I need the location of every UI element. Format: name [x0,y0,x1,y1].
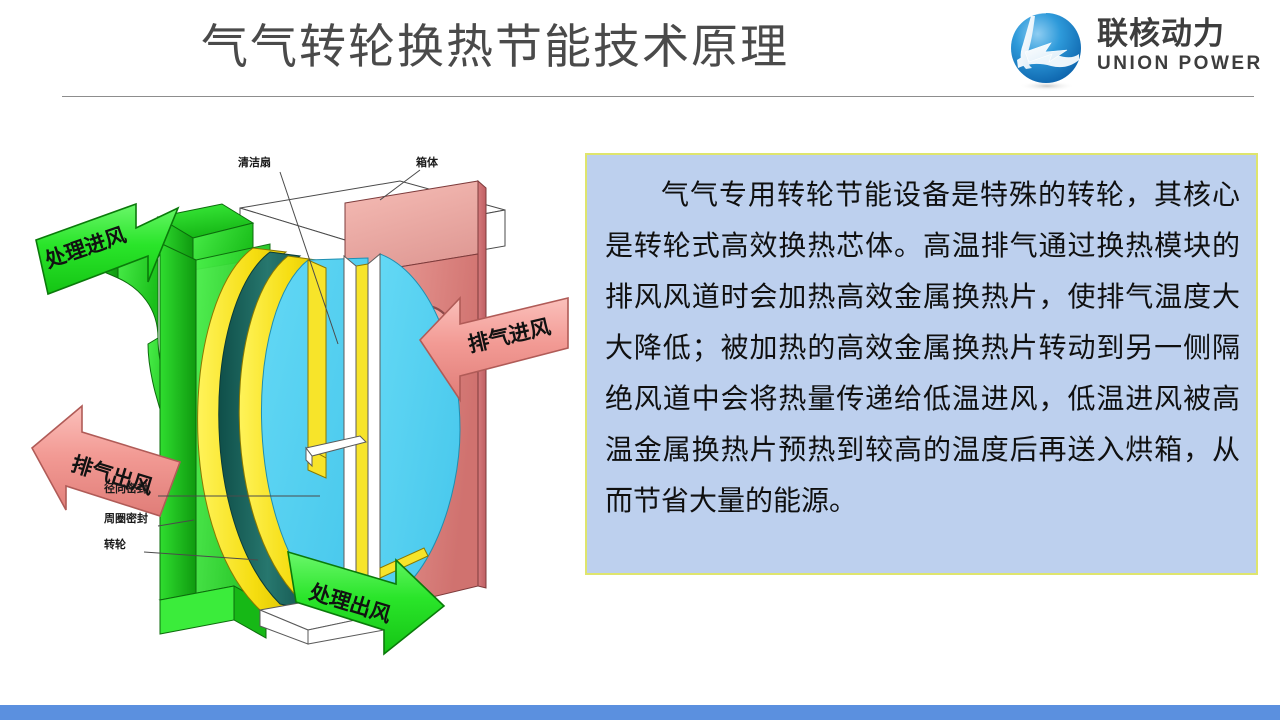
slide-root: 气气转轮换热节能技术原理 [0,0,1280,720]
callout-label-casing: 箱体 [416,155,439,169]
description-paragraph: 气气专用转轮节能设备是特殊的转轮，其核心是转轮式高效换热芯体。高温排气通过换热模… [605,169,1240,526]
globe-swoosh-icon [1005,10,1089,94]
description-panel: 气气专用转轮节能设备是特殊的转轮，其核心是转轮式高效换热芯体。高温排气通过换热模… [585,153,1258,575]
heat-wheel-diagram: 处理进风 排气进风 排气出风 处理出风 清洁扇 [8,148,573,660]
callout-label-rotor: 转轮 [104,537,126,551]
callout-label-clean-fan: 清洁扇 [238,155,271,169]
logo-wordmark: 联核动力 UNION POWER [1097,16,1267,76]
company-logo: 联核动力 UNION POWER [1005,8,1267,94]
callout-label-perimeter-seal: 周圈密封 [104,511,148,525]
arrow-exhaust-outlet: 排气出风 [32,406,180,516]
slide-header: 气气转轮换热节能技术原理 [0,0,1280,100]
callout-label-radial-seal: 径向密封 [104,481,148,495]
logo-name-en: UNION POWER [1097,52,1267,76]
footer-bar [0,705,1280,720]
page-title: 气气转轮换热节能技术原理 [0,18,990,78]
logo-name-cn: 联核动力 [1097,16,1267,52]
header-divider [62,96,1254,97]
